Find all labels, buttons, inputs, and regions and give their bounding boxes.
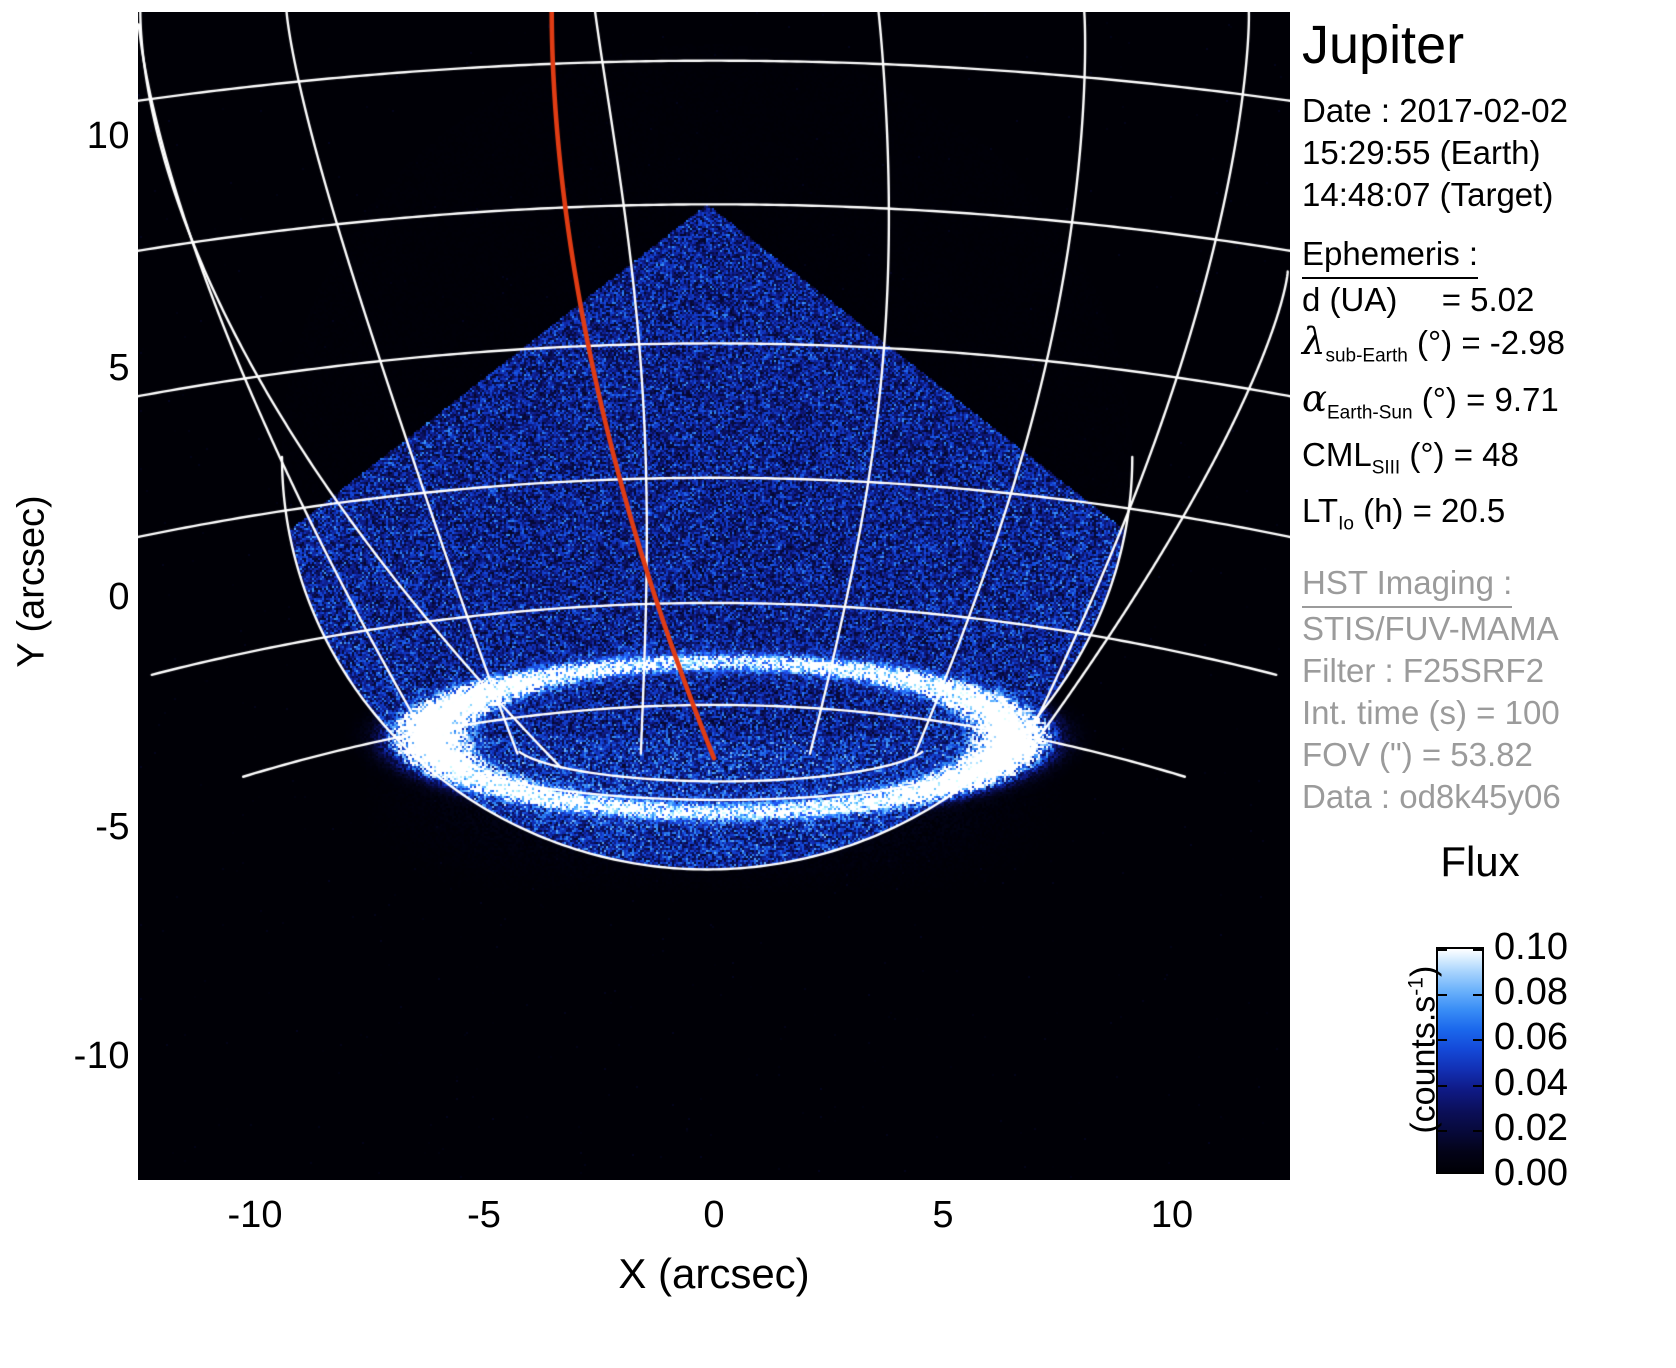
colorbar-tick-1: 0.08 <box>1494 973 1654 1011</box>
ephemeris-row-cml: CMLSIII (°) = 48 <box>1302 434 1676 490</box>
y-tick-0: 10 <box>10 117 130 155</box>
ephemeris-sub-lt: Io <box>1338 513 1354 534</box>
x-tick-2: 0 <box>644 1196 784 1234</box>
ephemeris-unit-alpha: (°) <box>1422 381 1457 418</box>
ephemeris-heading: Ephemeris : <box>1302 234 1478 279</box>
ephemeris-unit-lambda: (°) <box>1417 324 1452 361</box>
observation-time-target: 14:48:07 (Target) <box>1302 174 1676 216</box>
ephemeris-value-distance: = 5.02 <box>1442 281 1535 318</box>
hst-dataset: Data : od8k45y06 <box>1302 776 1676 818</box>
y-tick-3: -5 <box>10 808 130 846</box>
colorbar-tick-0: 0.10 <box>1494 928 1654 966</box>
observation-date: Date : 2017-02-02 <box>1302 90 1676 132</box>
ephemeris-label-distance: d (UA) <box>1302 281 1397 318</box>
hst-fov: FOV (") = 53.82 <box>1302 734 1676 776</box>
ephemeris-sub-alpha: Earth-Sun <box>1327 402 1413 423</box>
aurora-image-plot <box>138 12 1290 1180</box>
colorbar-tick-2: 0.06 <box>1494 1018 1654 1056</box>
info-panel: Jupiter Date : 2017-02-02 15:29:55 (Eart… <box>1300 14 1676 818</box>
ephemeris-label-cml: CML <box>1302 436 1372 473</box>
colorbar-unit-text: (counts.s <box>1405 996 1443 1134</box>
colorbar-unit-paren: ) <box>1405 966 1443 977</box>
y-tick-1: 5 <box>10 349 130 387</box>
colorbar-tick-5: 0.00 <box>1494 1154 1654 1192</box>
ephemeris-unit-cml: (°) <box>1409 436 1444 473</box>
colorbar-unit-label: (counts.s-1) <box>1404 900 1443 1200</box>
y-tick-4: -10 <box>10 1037 130 1075</box>
colorbar-unit-exponent: -1 <box>1404 977 1427 996</box>
ephemeris-label-alpha: α <box>1302 377 1327 420</box>
ephemeris-row-lt: LTIo (h) = 20.5 <box>1302 490 1676 546</box>
colorbar-tick-3: 0.04 <box>1494 1064 1654 1102</box>
x-tick-4: 10 <box>1102 1196 1242 1234</box>
colorbar-title: Flux <box>1390 838 1570 886</box>
y-axis-title: Y (arcsec) <box>11 432 54 732</box>
ephemeris-row-alpha: αEarth-Sun (°) = 9.71 <box>1302 378 1676 435</box>
x-tick-1: -5 <box>414 1196 554 1234</box>
hst-integration-time: Int. time (s) = 100 <box>1302 692 1676 734</box>
ephemeris-unit-lt: (h) <box>1363 492 1403 529</box>
ephemeris-sub-cml: SIII <box>1372 458 1401 479</box>
hst-instrument: STIS/FUV-MAMA <box>1302 608 1676 650</box>
ephemeris-sub-lambda: sub-Earth <box>1325 346 1407 367</box>
aurora-image-canvas <box>138 12 1290 1180</box>
hst-filter: Filter : F25SRF2 <box>1302 650 1676 692</box>
colorbar-tick-4: 0.02 <box>1494 1109 1654 1147</box>
x-tick-0: -10 <box>185 1196 325 1234</box>
ephemeris-label-lambda: λ <box>1302 320 1325 363</box>
ephemeris-label-lt: LT <box>1302 492 1338 529</box>
ephemeris-value-lambda: = -2.98 <box>1461 324 1565 361</box>
ephemeris-row-distance: d (UA) = 5.02 <box>1302 279 1676 321</box>
target-title: Jupiter <box>1302 14 1676 76</box>
observation-time-earth: 15:29:55 (Earth) <box>1302 132 1676 174</box>
ephemeris-value-cml: = 48 <box>1454 436 1519 473</box>
x-axis-title: X (arcsec) <box>138 1250 1290 1298</box>
hst-heading: HST Imaging : <box>1302 563 1512 608</box>
ephemeris-row-lambda: λsub-Earth (°) = -2.98 <box>1302 321 1676 378</box>
x-tick-3: 5 <box>873 1196 1013 1234</box>
ephemeris-value-alpha: = 9.71 <box>1466 381 1559 418</box>
ephemeris-value-lt: = 20.5 <box>1413 492 1506 529</box>
y-axis: 10 5 0 -5 -10 Y (arcsec) <box>0 0 130 1368</box>
